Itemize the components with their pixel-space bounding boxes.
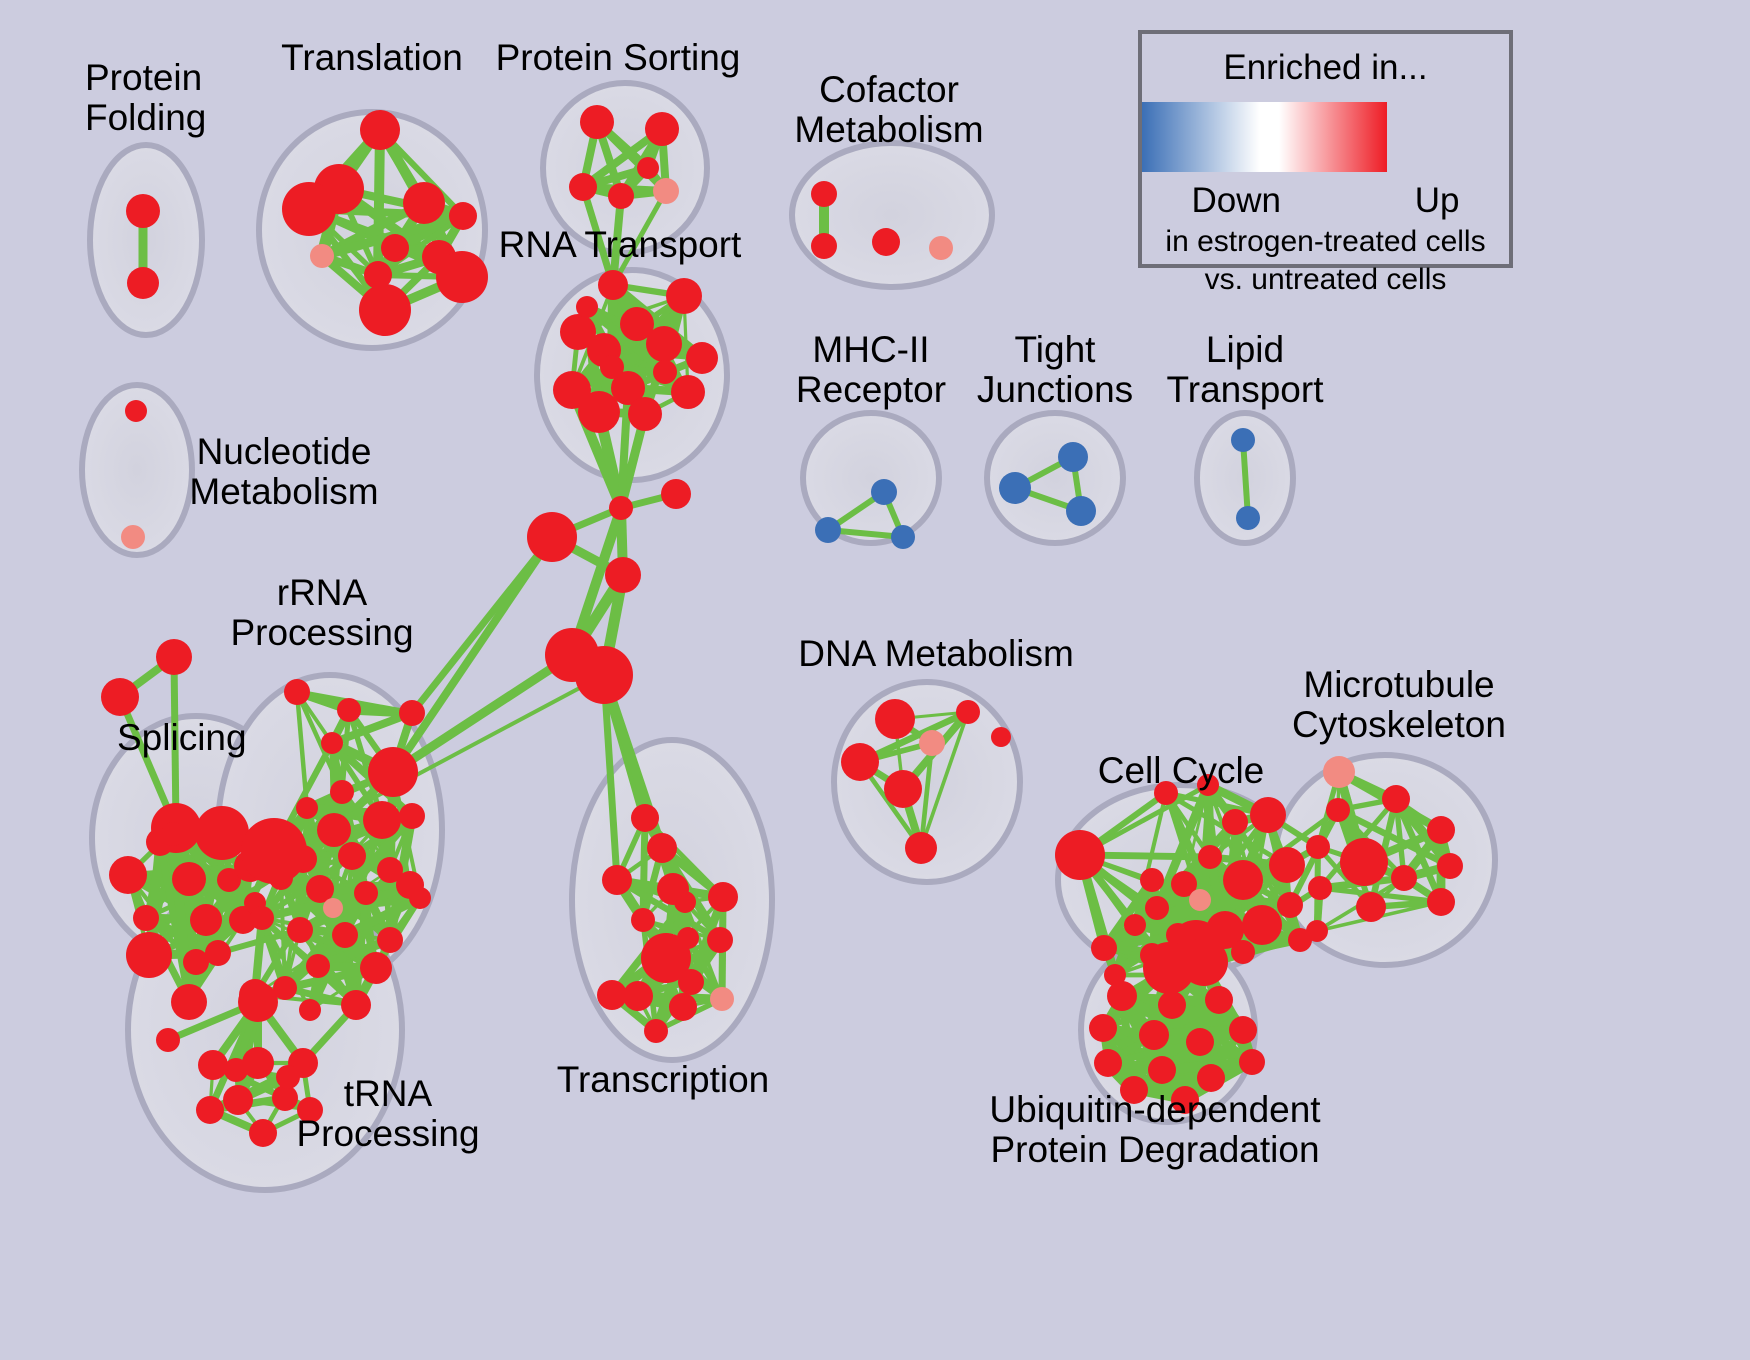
network-node[interactable] [1197,1064,1225,1092]
network-node[interactable] [671,375,705,409]
network-node[interactable] [678,969,704,995]
network-node[interactable] [1250,797,1286,833]
network-node[interactable] [609,496,633,520]
network-node[interactable] [631,908,655,932]
cluster-label-protein-sorting: Protein Sorting [496,38,741,78]
network-node[interactable] [337,698,361,722]
network-node[interactable] [190,904,222,936]
network-node[interactable] [811,233,837,259]
network-node[interactable] [1189,889,1211,911]
network-node[interactable] [1094,1049,1122,1077]
network-node[interactable] [661,479,691,509]
network-node[interactable] [1239,1049,1265,1075]
network-node[interactable] [686,342,718,374]
network-node[interactable] [126,194,160,228]
network-node[interactable] [1205,986,1233,1014]
legend-title: Enriched in... [1142,48,1509,88]
network-node[interactable] [1427,816,1455,844]
network-node[interactable] [241,818,307,884]
network-node[interactable] [647,833,677,863]
network-node[interactable] [1326,798,1350,822]
network-node[interactable] [1308,876,1332,900]
network-node[interactable] [905,832,937,864]
network-node[interactable] [1340,838,1388,886]
network-node[interactable] [359,284,411,336]
cluster-label-rna-transport: RNA Transport [499,225,742,265]
network-node[interactable] [156,639,192,675]
network-node[interactable] [161,822,185,846]
network-node[interactable] [669,993,697,1021]
network-node[interactable] [338,842,366,870]
network-node[interactable] [223,1085,253,1115]
network-node[interactable] [284,679,310,705]
network-node[interactable] [991,727,1011,747]
network-node[interactable] [623,981,653,1011]
network-node[interactable] [310,244,334,268]
network-node[interactable] [323,898,343,918]
network-node[interactable] [436,251,488,303]
cluster-label-tight-junctions: Tight Junctions [977,330,1133,410]
cluster-label-cofactor-metabolism: Cofactor Metabolism [794,70,983,150]
network-node[interactable] [1091,935,1117,961]
network-node[interactable] [884,770,922,808]
network-node[interactable] [1223,860,1263,900]
network-node[interactable] [332,922,358,948]
network-node[interactable] [1437,853,1463,879]
network-node[interactable] [1229,1016,1257,1044]
network-node[interactable] [653,360,677,384]
legend-subtitle-line1: in estrogen-treated cells [1142,225,1509,259]
network-node[interactable] [381,234,409,262]
enrichment-map-figure: Protein FoldingTranslationProtein Sortin… [0,0,1750,1360]
network-node[interactable] [125,400,147,422]
network-node[interactable] [1058,442,1088,472]
network-node[interactable] [133,905,159,931]
network-node[interactable] [628,397,662,431]
network-node[interactable] [580,105,614,139]
network-node[interactable] [1231,940,1255,964]
network-node[interactable] [1382,785,1410,813]
network-node[interactable] [597,980,627,1010]
network-edge [378,130,380,275]
network-node[interactable] [1186,1028,1214,1056]
network-node[interactable] [1277,892,1303,918]
network-node[interactable] [272,1085,298,1111]
network-node[interactable] [403,182,445,224]
network-node[interactable] [1391,865,1417,891]
network-node[interactable] [527,512,577,562]
network-node[interactable] [578,391,620,433]
network-node[interactable] [156,1028,180,1052]
network-node[interactable] [600,355,624,379]
network-node[interactable] [330,780,354,804]
network-node[interactable] [644,1019,668,1043]
network-node[interactable] [1269,847,1305,883]
cluster-label-cell-cycle: Cell Cycle [1098,751,1265,791]
legend-endpoints: Down Up [1190,181,1462,221]
cluster-label-splicing: Splicing [117,718,247,758]
network-node[interactable] [1139,1020,1169,1050]
network-node[interactable] [1124,914,1146,936]
network-node[interactable] [708,882,738,912]
network-node[interactable] [1055,830,1105,880]
network-node[interactable] [631,804,659,832]
network-node[interactable] [569,173,597,201]
network-node[interactable] [399,700,425,726]
cluster-label-rrna-processing: rRNA Processing [230,573,413,653]
network-node[interactable] [605,557,641,593]
legend-box: Enriched in... Down Up in estrogen-treat… [1138,30,1513,268]
network-node[interactable] [1231,428,1255,452]
network-node[interactable] [296,797,318,819]
network-node[interactable] [841,743,879,781]
network-node[interactable] [321,732,343,754]
network-node[interactable] [198,1050,228,1080]
network-node[interactable] [171,984,207,1020]
network-node[interactable] [1306,835,1330,859]
network-node[interactable] [1356,892,1386,922]
network-node[interactable] [1089,1014,1117,1042]
cluster-label-microtubule-cytoskeleton: Microtubule Cytoskeleton [1292,665,1506,745]
network-node[interactable] [249,1119,277,1147]
network-node[interactable] [1427,888,1455,916]
cluster-label-trna-processing: tRNA Processing [296,1074,479,1154]
network-node[interactable] [707,927,733,953]
network-node[interactable] [1198,845,1222,869]
network-node[interactable] [196,1096,224,1124]
network-node[interactable] [891,525,915,549]
legend-high-label: Up [1415,181,1460,221]
network-node[interactable] [1148,1056,1176,1084]
network-node[interactable] [1236,506,1260,530]
network-node[interactable] [399,803,425,829]
network-node[interactable] [1323,756,1355,788]
network-node[interactable] [1066,496,1096,526]
network-node[interactable] [363,801,401,839]
network-node[interactable] [205,940,231,966]
network-node[interactable] [127,267,159,299]
network-node[interactable] [811,181,837,207]
network-node[interactable] [602,865,632,895]
network-node[interactable] [360,110,400,150]
network-node[interactable] [919,730,945,756]
network-node[interactable] [109,856,147,894]
network-node[interactable] [360,952,392,984]
network-node[interactable] [1242,905,1282,945]
network-node[interactable] [956,700,980,724]
network-node[interactable] [1158,991,1186,1019]
network-node[interactable] [576,296,598,318]
network-node[interactable] [282,182,336,236]
network-node[interactable] [999,472,1031,504]
network-node[interactable] [172,862,206,896]
network-node[interactable] [287,917,313,943]
network-node[interactable] [815,517,841,543]
network-node[interactable] [341,990,371,1020]
network-node[interactable] [871,479,897,505]
network-node[interactable] [646,326,682,362]
network-node[interactable] [317,813,351,847]
network-node[interactable] [645,112,679,146]
cluster-label-protein-folding: Protein Folding [85,58,206,138]
legend-gradient-bar [1142,102,1387,172]
cluster-label-nucleotide-metabolism: Nucleotide Metabolism [189,432,378,512]
network-node[interactable] [575,646,633,704]
cluster-label-dna-metabolism: DNA Metabolism [798,634,1074,674]
network-node[interactable] [1107,981,1137,1011]
network-node[interactable] [224,1058,248,1082]
network-node[interactable] [377,927,403,953]
network-node[interactable] [875,699,915,739]
network-node[interactable] [637,157,659,179]
network-node[interactable] [1180,938,1228,986]
network-node[interactable] [653,178,679,204]
network-node[interactable] [101,678,139,716]
legend-subtitle-line2: vs. untreated cells [1142,263,1509,297]
network-node[interactable] [449,202,477,230]
network-node[interactable] [1145,896,1169,920]
network-node[interactable] [121,525,145,549]
network-node[interactable] [354,881,378,905]
network-node[interactable] [368,747,418,797]
network-node[interactable] [238,982,278,1022]
cluster-label-transcription: Transcription [557,1060,769,1100]
network-node[interactable] [250,906,274,930]
network-node[interactable] [929,236,953,260]
network-node[interactable] [666,278,702,314]
network-node[interactable] [598,270,628,300]
cluster-label-lipid-transport: Lipid Transport [1167,330,1324,410]
network-node[interactable] [872,228,900,256]
network-node[interactable] [1306,920,1328,942]
network-node[interactable] [299,999,321,1021]
legend-low-label: Down [1192,181,1281,221]
network-node[interactable] [674,891,696,913]
cluster-label-ubiquitin-protein-degradation: Ubiquitin-dependent Protein Degradation [989,1090,1320,1170]
cluster-label-mhc-ii-receptor: MHC-II Receptor [796,330,946,410]
network-node[interactable] [608,183,634,209]
network-node[interactable] [1222,809,1248,835]
network-node[interactable] [126,932,172,978]
network-node[interactable] [710,987,734,1011]
network-node[interactable] [195,806,249,860]
cluster-label-translation: Translation [281,38,463,78]
network-node[interactable] [409,887,431,909]
network-node[interactable] [306,954,330,978]
network-node[interactable] [1140,868,1164,892]
